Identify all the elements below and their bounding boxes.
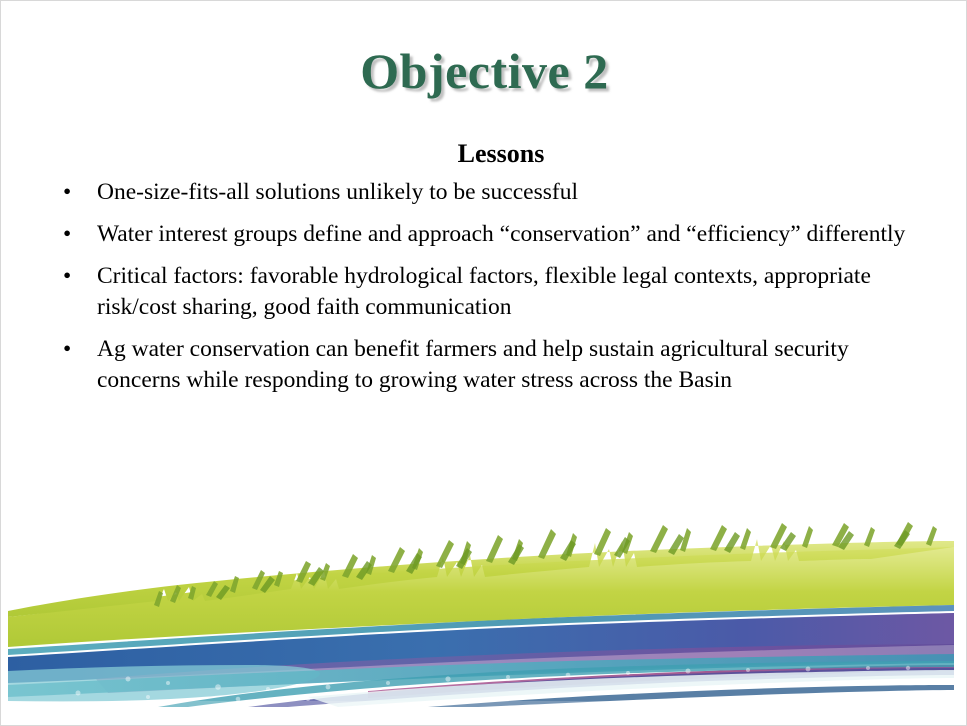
bullet-marker-icon: • — [63, 177, 71, 208]
watercolor-river-image — [8, 521, 954, 707]
list-item: • Ag water conservation can benefit farm… — [53, 334, 928, 396]
bullet-marker-icon: • — [63, 334, 71, 365]
bullet-marker-icon: • — [63, 219, 71, 250]
list-item: • Critical factors: favorable hydrologic… — [53, 261, 928, 323]
list-item-text: One-size-fits-all solutions unlikely to … — [97, 177, 928, 208]
page-title: Objective 2 — [1, 45, 967, 98]
list-item: • One-size-fits-all solutions unlikely t… — [53, 177, 928, 208]
watercolor-svg — [8, 521, 954, 707]
list-item: • Water interest groups define and appro… — [53, 219, 928, 250]
subheading: Lessons — [96, 139, 906, 169]
list-item-text: Water interest groups define and approac… — [97, 219, 928, 250]
list-item-text: Critical factors: favorable hydrological… — [97, 261, 928, 323]
list-item-text: Ag water conservation can benefit farmer… — [97, 334, 928, 396]
bullet-list: • One-size-fits-all solutions unlikely t… — [53, 177, 928, 407]
bullet-marker-icon: • — [63, 261, 71, 292]
slide: Objective 2 Lessons • One-size-fits-all … — [0, 0, 967, 726]
